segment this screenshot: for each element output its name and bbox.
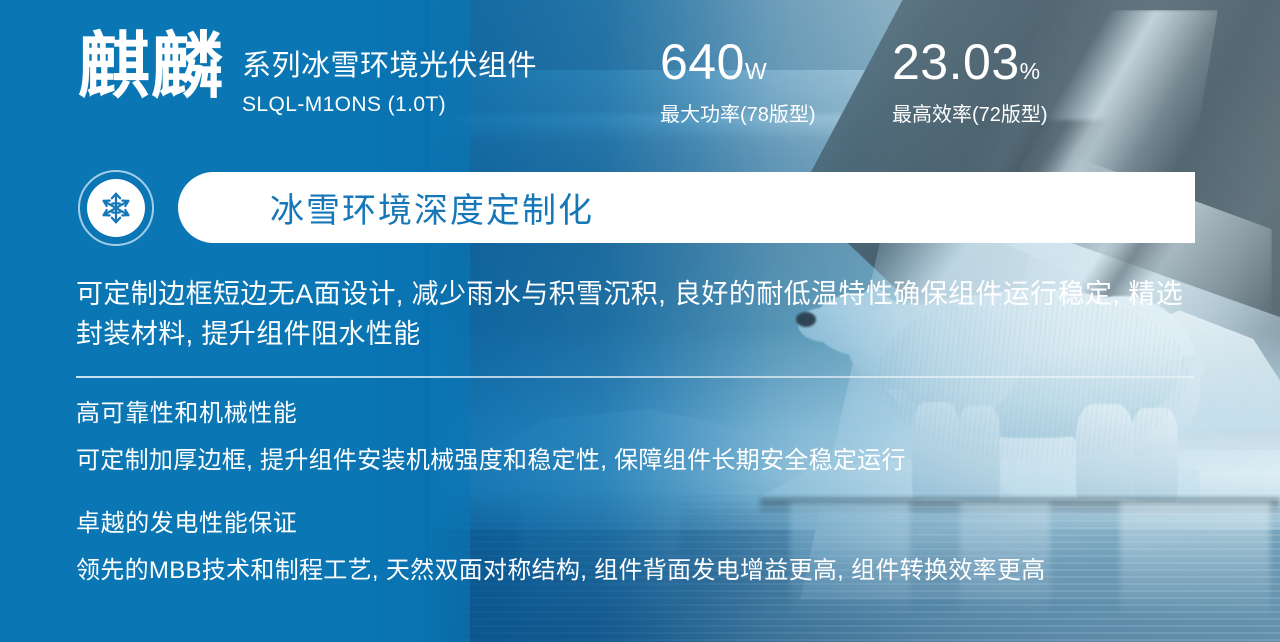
spec-value: 640: [660, 34, 745, 90]
brand-name: 麒麟: [78, 28, 224, 106]
feature-reliability: 高可靠性和机械性能 可定制加厚边框, 提升组件安装机械强度和稳定性, 保障组件长…: [76, 398, 1191, 478]
headline-banner-box: 冰雪环境深度定制化: [178, 172, 1195, 243]
snowflake-icon: [98, 190, 134, 226]
brand-block: 麒麟 系列冰雪环境光伏组件 SLQL-M1ONS (1.0T): [78, 28, 537, 120]
feature-body: 领先的MBB技术和制程工艺, 天然双面对称结构, 组件背面发电增益更高, 组件转…: [76, 554, 1191, 588]
spec-value: 23.03: [892, 34, 1020, 90]
feature-title: 高可靠性和机械性能: [76, 398, 1191, 430]
spec-value-row: 640W: [660, 34, 892, 99]
snowflake-badge-disc: [87, 179, 145, 237]
feature-power-generation: 卓越的发电性能保证 领先的MBB技术和制程工艺, 天然双面对称结构, 组件背面发…: [76, 508, 1191, 588]
spec-max-efficiency: 23.03% 最高效率(72版型): [892, 34, 1124, 129]
spec-label: 最高效率(72版型): [892, 101, 1124, 129]
spec-value-row: 23.03%: [892, 34, 1124, 99]
spec-group: 640W 最大功率(78版型) 23.03% 最高效率(72版型): [660, 34, 1124, 129]
feature-title: 卓越的发电性能保证: [76, 508, 1191, 540]
brand-model-number: SLQL-M1ONS (1.0T): [242, 90, 537, 120]
spec-unit: W: [745, 58, 767, 84]
brand-subtitle-group: 系列冰雪环境光伏组件 SLQL-M1ONS (1.0T): [242, 28, 537, 120]
header: 麒麟 系列冰雪环境光伏组件 SLQL-M1ONS (1.0T): [78, 28, 537, 120]
headline-banner-text: 冰雪环境深度定制化: [270, 183, 594, 232]
lead-paragraph: 可定制边框短边无A面设计, 减少雨水与积雪沉积, 良好的耐低温特性确保组件运行稳…: [76, 274, 1186, 354]
product-banner: 麒麟 系列冰雪环境光伏组件 SLQL-M1ONS (1.0T) 640W 最大功…: [0, 0, 1280, 642]
spec-max-power: 640W 最大功率(78版型): [660, 34, 892, 129]
feature-body: 可定制加厚边框, 提升组件安装机械强度和稳定性, 保障组件长期安全稳定运行: [76, 444, 1191, 478]
spec-label: 最大功率(78版型): [660, 101, 892, 129]
content-layer: 麒麟 系列冰雪环境光伏组件 SLQL-M1ONS (1.0T) 640W 最大功…: [0, 0, 1280, 642]
snowflake-badge: [78, 170, 154, 246]
brand-series: 系列冰雪环境光伏组件: [242, 48, 537, 84]
section-divider: [76, 376, 1194, 378]
spec-unit: %: [1020, 58, 1040, 84]
